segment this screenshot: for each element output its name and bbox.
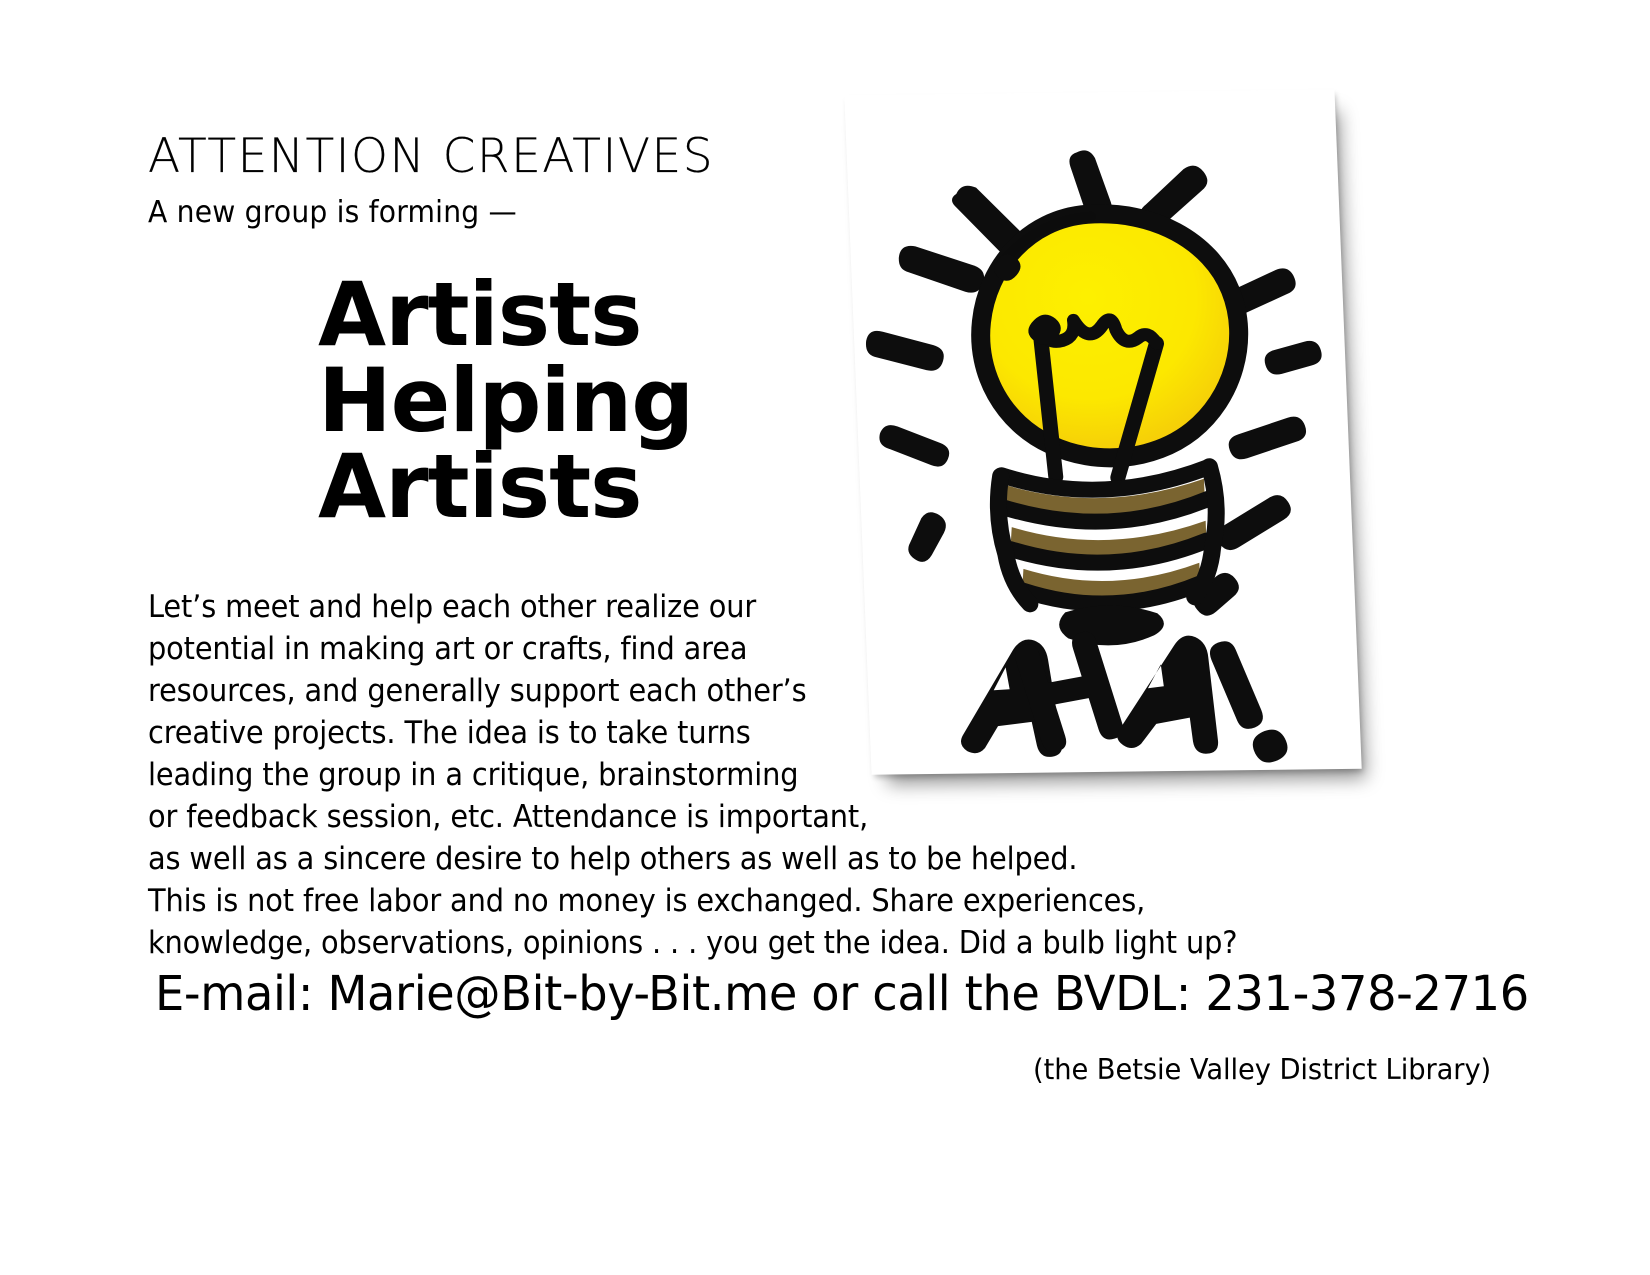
organization-note: (the Betsie Valley District Library) xyxy=(1033,1053,1491,1086)
headline-group: Artists Helping Artists xyxy=(318,272,693,531)
lightbulb-icon xyxy=(844,89,1361,774)
body-line: knowledge, observations, opinions . . . … xyxy=(148,922,1328,964)
page-title: ATTENTION CREATIVES xyxy=(148,133,714,180)
contact-line: E-mail: Marie@Bit-by-Bit.me or call the … xyxy=(155,966,1529,1022)
flyer-canvas: ATTENTION CREATIVES A new group is formi… xyxy=(0,0,1650,1275)
subtitle: A new group is forming — xyxy=(148,198,517,228)
body-line: This is not free labor and no money is e… xyxy=(148,880,1328,922)
headline-line-2: Helping xyxy=(318,358,693,444)
headline-line-3: Artists xyxy=(318,444,693,530)
headline-line-1: Artists xyxy=(318,272,693,358)
illustration-card xyxy=(844,89,1361,774)
lightbulb-illustration xyxy=(836,78,1396,808)
body-line: as well as a sincere desire to help othe… xyxy=(148,838,1328,880)
